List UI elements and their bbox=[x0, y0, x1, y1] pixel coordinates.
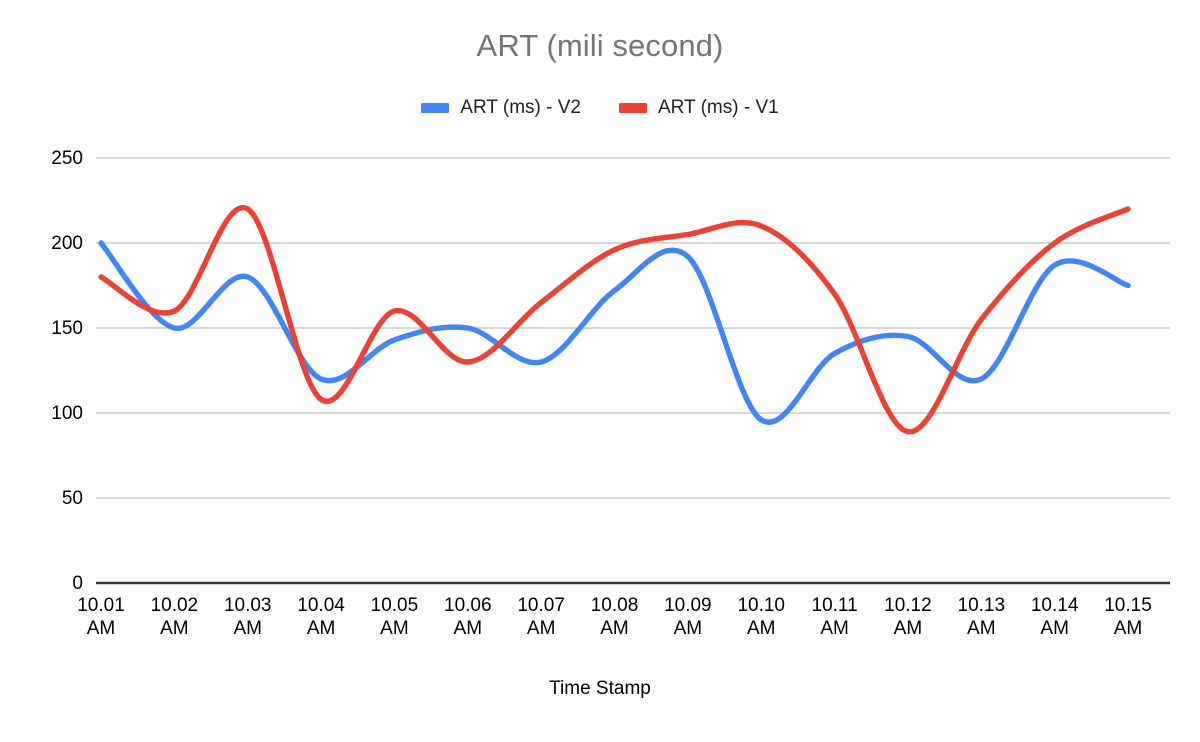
x-tick-label: 10.11AM bbox=[812, 595, 858, 639]
y-tick-label: 200 bbox=[51, 233, 83, 254]
y-tick-label: 0 bbox=[72, 573, 83, 594]
x-tick-label: 10.03AM bbox=[224, 595, 272, 639]
x-tick-label: 10.07AM bbox=[517, 595, 565, 639]
y-tick-label: 250 bbox=[51, 148, 83, 169]
data-series-group bbox=[101, 208, 1128, 432]
y-axis-labels-group: 050100150200250 bbox=[51, 148, 83, 594]
x-tick-label: 10.02AM bbox=[151, 595, 199, 639]
x-tick-label: 10.14AM bbox=[1031, 595, 1079, 639]
series-line-v1 bbox=[101, 208, 1128, 432]
x-axis-labels-group: 10.01AM10.02AM10.03AM10.04AM10.05AM10.06… bbox=[77, 595, 1152, 639]
x-tick-label: 10.08AM bbox=[591, 595, 639, 639]
plot-area: 050100150200250 10.01AM10.02AM10.03AM10.… bbox=[0, 0, 1200, 742]
x-tick-label: 10.09AM bbox=[664, 595, 712, 639]
y-tick-label: 50 bbox=[62, 488, 83, 509]
x-tick-label: 10.01AM bbox=[77, 595, 125, 639]
x-tick-label: 10.06AM bbox=[444, 595, 492, 639]
x-tick-label: 10.04AM bbox=[297, 595, 345, 639]
chart-container: ART (mili second) ART (ms) - V2 ART (ms)… bbox=[0, 0, 1200, 742]
x-axis-title: Time Stamp bbox=[549, 678, 651, 699]
x-tick-label: 10.15AM bbox=[1104, 595, 1152, 639]
y-tick-label: 150 bbox=[51, 318, 83, 339]
x-tick-label: 10.05AM bbox=[371, 595, 419, 639]
y-tick-label: 100 bbox=[51, 403, 83, 424]
x-tick-label: 10.13AM bbox=[958, 595, 1006, 639]
x-tick-label: 10.10AM bbox=[737, 595, 785, 639]
x-tick-label: 10.12AM bbox=[884, 595, 932, 639]
